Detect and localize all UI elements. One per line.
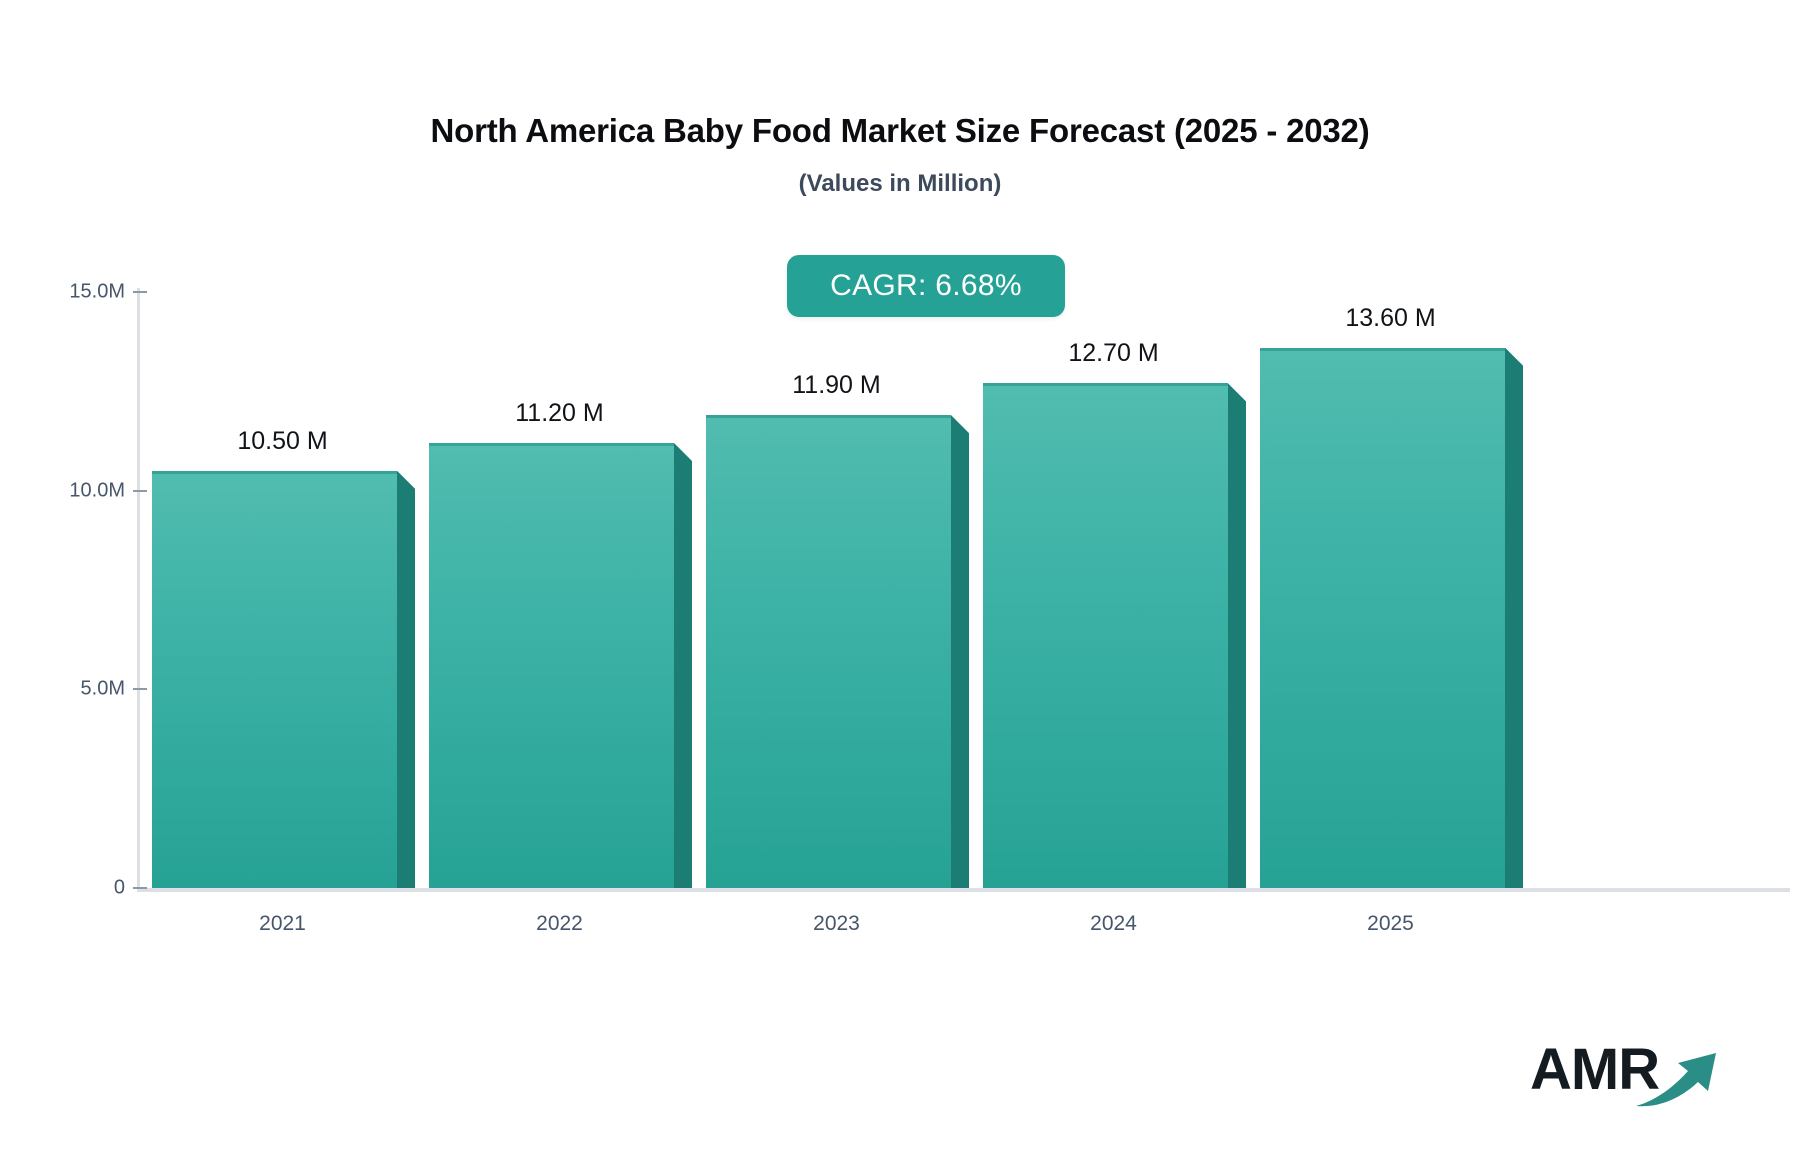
y-tick-mark [133, 291, 147, 293]
bar-2021[interactable] [152, 471, 397, 888]
bar-value-label: 13.60 M [1345, 304, 1435, 333]
bar-value-label: 11.90 M [792, 371, 880, 400]
bar-face [152, 471, 397, 888]
growth-arrow-icon [1634, 1049, 1720, 1111]
bar-face [706, 415, 951, 888]
bar-face [429, 443, 674, 888]
bar-top-edge [1260, 348, 1505, 351]
bar-face [983, 383, 1228, 888]
x-tick-label-2021: 2021 [259, 912, 306, 936]
x-tick-label-2023: 2023 [813, 912, 860, 936]
bar-value-label: 11.20 M [515, 399, 603, 428]
x-tick-label-2025: 2025 [1367, 912, 1414, 936]
chart-canvas: North America Baby Food Market Size Fore… [0, 0, 1800, 1156]
x-axis-line [137, 888, 1790, 892]
y-tick-label: 10.0M [0, 479, 125, 502]
bar-top-edge [983, 383, 1228, 386]
bar-side-face [674, 443, 692, 888]
bar-face [1260, 348, 1505, 888]
y-tick-label: 0 [0, 877, 125, 900]
bar-side-face [1505, 348, 1523, 888]
bar-2024[interactable] [983, 383, 1228, 888]
bar-top-edge [429, 443, 674, 446]
x-tick-label-2022: 2022 [536, 912, 583, 936]
y-tick-label: 15.0M [0, 281, 125, 304]
y-axis-line [137, 288, 140, 890]
y-tick-mark [133, 688, 147, 690]
bar-side-face [951, 415, 969, 888]
y-tick-label: 5.0M [0, 678, 125, 701]
y-tick-mark [133, 490, 147, 492]
x-tick-label-2024: 2024 [1090, 912, 1137, 936]
bar-2023[interactable] [706, 415, 951, 888]
bar-top-edge [706, 415, 951, 418]
bar-value-label: 12.70 M [1068, 339, 1158, 368]
bar-side-face [1228, 383, 1246, 888]
bar-top-edge [152, 471, 397, 474]
amr-logo: AMR [1530, 1035, 1720, 1115]
bar-2025[interactable] [1260, 348, 1505, 888]
y-tick-mark [133, 887, 147, 889]
bar-side-face [397, 471, 415, 888]
plot-area: 15.0M10.0M5.0M0 10.50 M11.20 M11.90 M12.… [0, 0, 1800, 1156]
bar-2022[interactable] [429, 443, 674, 888]
bar-value-label: 10.50 M [237, 427, 327, 456]
